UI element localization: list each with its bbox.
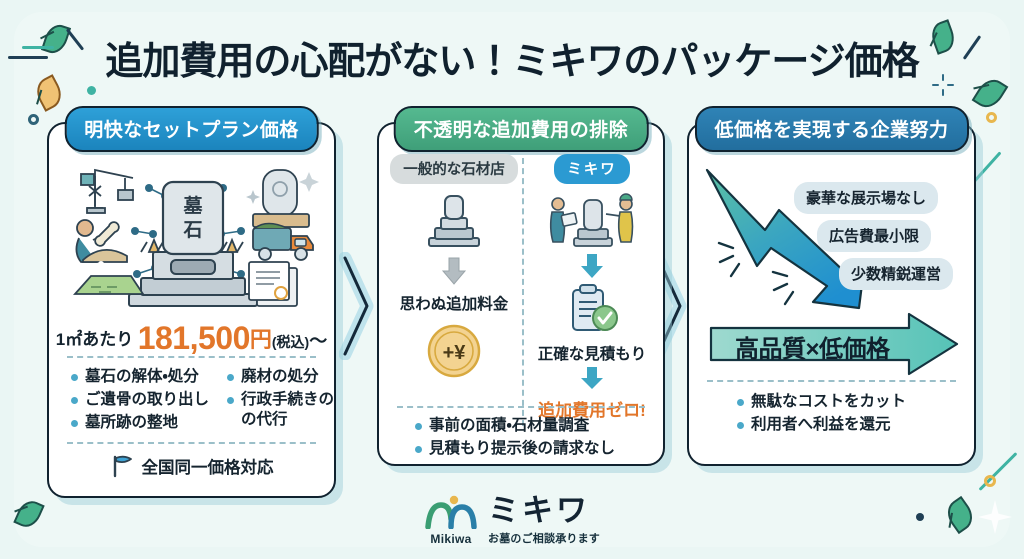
price-currency: 円 xyxy=(250,327,272,352)
brand-footer: Mikiwa ミキワ お墓のご相談承ります xyxy=(0,495,1024,546)
divider xyxy=(707,380,956,382)
gravestone-icon xyxy=(387,192,521,255)
panel-badge: 低価格を実現する企業努力 xyxy=(694,106,968,152)
divider xyxy=(67,442,316,444)
tag-lean-team: 少数精鋭運営 xyxy=(839,258,953,290)
page-title: 追加費用の心配がない！ミキワのパッケージ価格 xyxy=(0,30,1024,85)
panel-badge: 明快なセットプラン価格 xyxy=(64,106,319,152)
tag-minimal-ads: 広告費最小限 xyxy=(817,220,931,252)
column-mikiwa: ミキワ xyxy=(525,154,659,421)
flag-icon xyxy=(110,454,134,478)
list-item: 無駄なコストをカット xyxy=(737,392,957,412)
svg-text:墓: 墓 xyxy=(182,195,203,217)
divider xyxy=(397,406,645,408)
logo-text-block: ミキワ お墓のご相談承ります xyxy=(488,495,600,546)
mikiwa-logo-icon: Mikiwa xyxy=(424,495,478,546)
logo-tagline: お墓のご相談承ります xyxy=(488,530,600,546)
unexpected-fee-label: 思わぬ追加料金 xyxy=(387,292,521,314)
surveyors-gravestone-icon xyxy=(525,192,659,255)
price-amount: 181,500 xyxy=(138,320,250,356)
mikiwa-pill: ミキワ xyxy=(554,154,630,184)
nationwide-price-note: 全国同一価格対応 xyxy=(49,454,334,478)
panel-corporate-effort: 低価格を実現する企業努力 豪華な展示場なし 広告費最小限 xyxy=(687,122,976,466)
panel-no-hidden-fees: 不透明な追加費用の排除 一般的な石材店 思わぬ追加料金 xyxy=(377,122,665,466)
panel2-benefits: 事前の面積・石材量調査 見積もり提示後の請求なし xyxy=(415,416,645,462)
list-item: ご遺骨の取り出し xyxy=(71,390,231,410)
list-item: 墓石の解体・処分 xyxy=(71,367,231,387)
down-arrow-gray xyxy=(387,257,521,290)
chevron-connector xyxy=(339,252,379,360)
logo-name: ミキワ xyxy=(488,495,600,526)
svg-text:+¥: +¥ xyxy=(443,342,467,364)
list-item: 見積もり提示後の請求なし xyxy=(415,439,645,459)
accurate-estimate-label: 正確な見積もり xyxy=(525,342,659,364)
svg-text:石: 石 xyxy=(182,220,202,241)
list-item: 廃材の処分 xyxy=(227,367,337,387)
divider xyxy=(67,356,316,358)
clipboard-check-icon xyxy=(525,284,659,341)
price-row: 1㎡あたり 181,500円(税込)〜 xyxy=(49,320,334,357)
list-item: 事前の面積・石材量調査 xyxy=(415,416,645,436)
panel3-benefits: 無駄なコストをカット 利用者へ利益を還元 xyxy=(737,392,957,438)
price-prefix: 1㎡あたり xyxy=(56,330,133,349)
vertical-divider xyxy=(522,158,524,426)
price-tax-note: (税込) xyxy=(272,334,309,350)
nationwide-price-label: 全国同一価格対応 xyxy=(142,454,274,478)
quality-price-label: 高品質×低価格 xyxy=(735,329,890,364)
list-item: 墓所跡の整地 xyxy=(71,413,231,433)
quality-price-arrow: 高品質×低価格 xyxy=(709,312,959,376)
grave-removal-illustration: 墓 石 xyxy=(57,156,329,308)
included-services-right: 廃材の処分 行政手続きの の代行 xyxy=(227,367,337,432)
general-shop-pill: 一般的な石材店 xyxy=(390,154,518,184)
panel-badge: 不透明な追加費用の排除 xyxy=(394,106,649,152)
column-general-shop: 一般的な石材店 思わぬ追加料金 +¥ xyxy=(387,154,521,385)
down-arrow-teal xyxy=(525,253,659,284)
panel-set-plan-price: 明快なセットプラン価格 xyxy=(47,122,336,498)
list-item: 行政手続きの の代行 xyxy=(227,390,337,430)
tag-no-showroom: 豪華な展示場なし xyxy=(794,182,938,214)
price-suffix: 〜 xyxy=(309,331,327,351)
down-arrow-teal xyxy=(525,366,659,395)
logo-en-label: Mikiwa xyxy=(424,532,478,546)
infographic-root: 追加費用の心配がない！ミキワのパッケージ価格 明快なセットプラン価格 xyxy=(0,0,1024,559)
plus-yen-coin-icon: +¥ xyxy=(387,322,521,385)
list-item: 利用者へ利益を還元 xyxy=(737,415,957,435)
included-services-left: 墓石の解体・処分 ご遺骨の取り出し 墓所跡の整地 xyxy=(71,367,231,435)
